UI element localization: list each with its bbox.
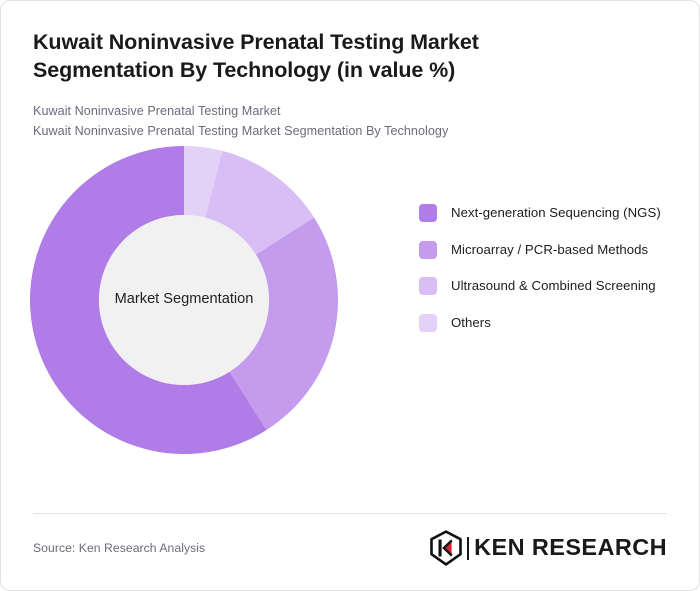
chart-header: Kuwait Noninvasive Prenatal Testing Mark…	[1, 1, 699, 142]
source-text: Source: Ken Research Analysis	[33, 541, 205, 555]
legend-swatch-icon	[419, 241, 437, 259]
hexagon-k-logo-icon	[429, 530, 463, 566]
chart-card: Kuwait Noninvasive Prenatal Testing Mark…	[0, 0, 700, 591]
legend-item-label: Next-generation Sequencing (NGS)	[451, 203, 661, 223]
ken-research-logo: KEN RESEARCH	[429, 530, 667, 566]
donut-chart: Market Segmentation	[30, 146, 338, 454]
chart-subtitle-2: Kuwait Noninvasive Prenatal Testing Mark…	[33, 121, 667, 141]
legend-item[interactable]: Ultrasound & Combined Screening	[419, 276, 669, 296]
legend-item[interactable]: Microarray / PCR-based Methods	[419, 240, 669, 260]
legend-item[interactable]: Next-generation Sequencing (NGS)	[419, 203, 669, 223]
chart-subtitles: Kuwait Noninvasive Prenatal Testing Mark…	[33, 101, 667, 142]
chart-footer: Source: Ken Research Analysis KEN RESEAR…	[33, 529, 667, 567]
chart-body: Market Segmentation Next-generation Sequ…	[1, 146, 699, 476]
legend-swatch-icon	[419, 314, 437, 332]
logo-wordmark: KEN RESEARCH	[474, 536, 667, 560]
legend-swatch-icon	[419, 277, 437, 295]
chart-legend: Next-generation Sequencing (NGS)Microarr…	[419, 203, 669, 333]
legend-swatch-icon	[419, 204, 437, 222]
page-title: Kuwait Noninvasive Prenatal Testing Mark…	[33, 29, 593, 84]
legend-item-label: Ultrasound & Combined Screening	[451, 276, 656, 296]
footer-divider	[33, 513, 667, 514]
logo-divider	[467, 537, 469, 560]
chart-subtitle-1: Kuwait Noninvasive Prenatal Testing Mark…	[33, 101, 667, 121]
legend-item[interactable]: Others	[419, 313, 669, 333]
donut-hole: Market Segmentation	[99, 215, 269, 385]
legend-item-label: Others	[451, 313, 491, 333]
donut-center-label: Market Segmentation	[109, 290, 260, 309]
legend-item-label: Microarray / PCR-based Methods	[451, 240, 648, 260]
